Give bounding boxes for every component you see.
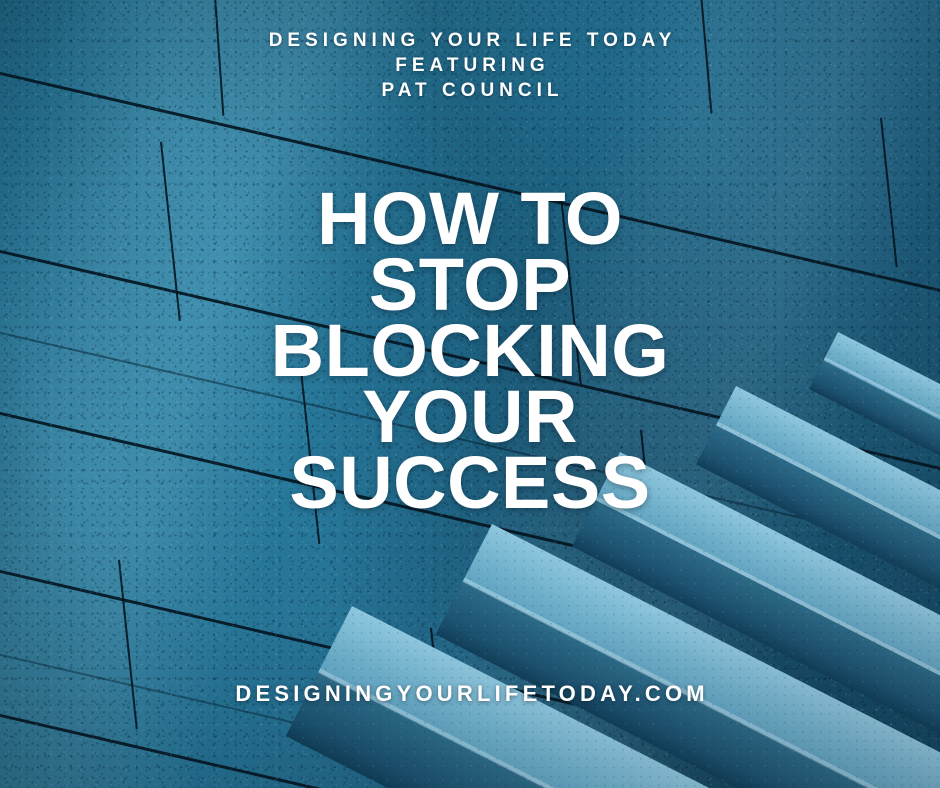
page-title: HOW TO STOP BLOCKING YOUR SUCCESS (0, 186, 940, 516)
website-url: DESIGNINGYOURLIFETODAY.COM (231, 681, 709, 707)
footer: DESIGNINGYOURLIFETODAY.COM (0, 681, 940, 707)
header: DESIGNING YOUR LIFE TODAY FEATURING PAT … (0, 28, 940, 103)
title-line: SUCCESS (0, 450, 940, 516)
featuring-label: FEATURING (0, 53, 940, 78)
poster-content: DESIGNING YOUR LIFE TODAY FEATURING PAT … (0, 0, 940, 788)
show-title: DESIGNING YOUR LIFE TODAY (0, 28, 940, 53)
podcast-promo-poster: DESIGNING YOUR LIFE TODAY FEATURING PAT … (0, 0, 940, 788)
host-name: PAT COUNCIL (0, 78, 940, 103)
